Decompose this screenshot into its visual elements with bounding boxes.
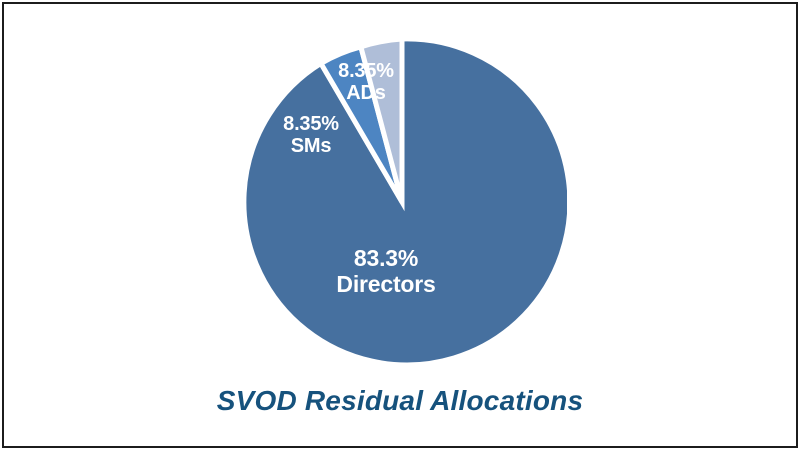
pie-slice-directors[interactable] (244, 39, 567, 365)
pie-label-directors-name: Directors (336, 272, 435, 298)
pie-chart: 83.3% Directors 8.35% SMs 8.35% ADs (0, 0, 800, 450)
pie-label-directors: 83.3% Directors (336, 246, 435, 298)
pie-label-sms-name: SMs (283, 135, 339, 157)
figure-root: 83.3% Directors 8.35% SMs 8.35% ADs SVOD… (0, 0, 800, 450)
pie-label-sms-percent: 8.35% (283, 113, 339, 135)
pie-label-ads-percent: 8.35% (338, 60, 394, 82)
pie-label-sms: 8.35% SMs (283, 113, 339, 158)
pie-label-directors-percent: 83.3% (336, 246, 435, 272)
pie-svg (237, 37, 567, 367)
pie-label-ads: 8.35% ADs (338, 60, 394, 105)
pie-label-ads-name: ADs (338, 82, 394, 104)
chart-title: SVOD Residual Allocations (0, 385, 800, 417)
